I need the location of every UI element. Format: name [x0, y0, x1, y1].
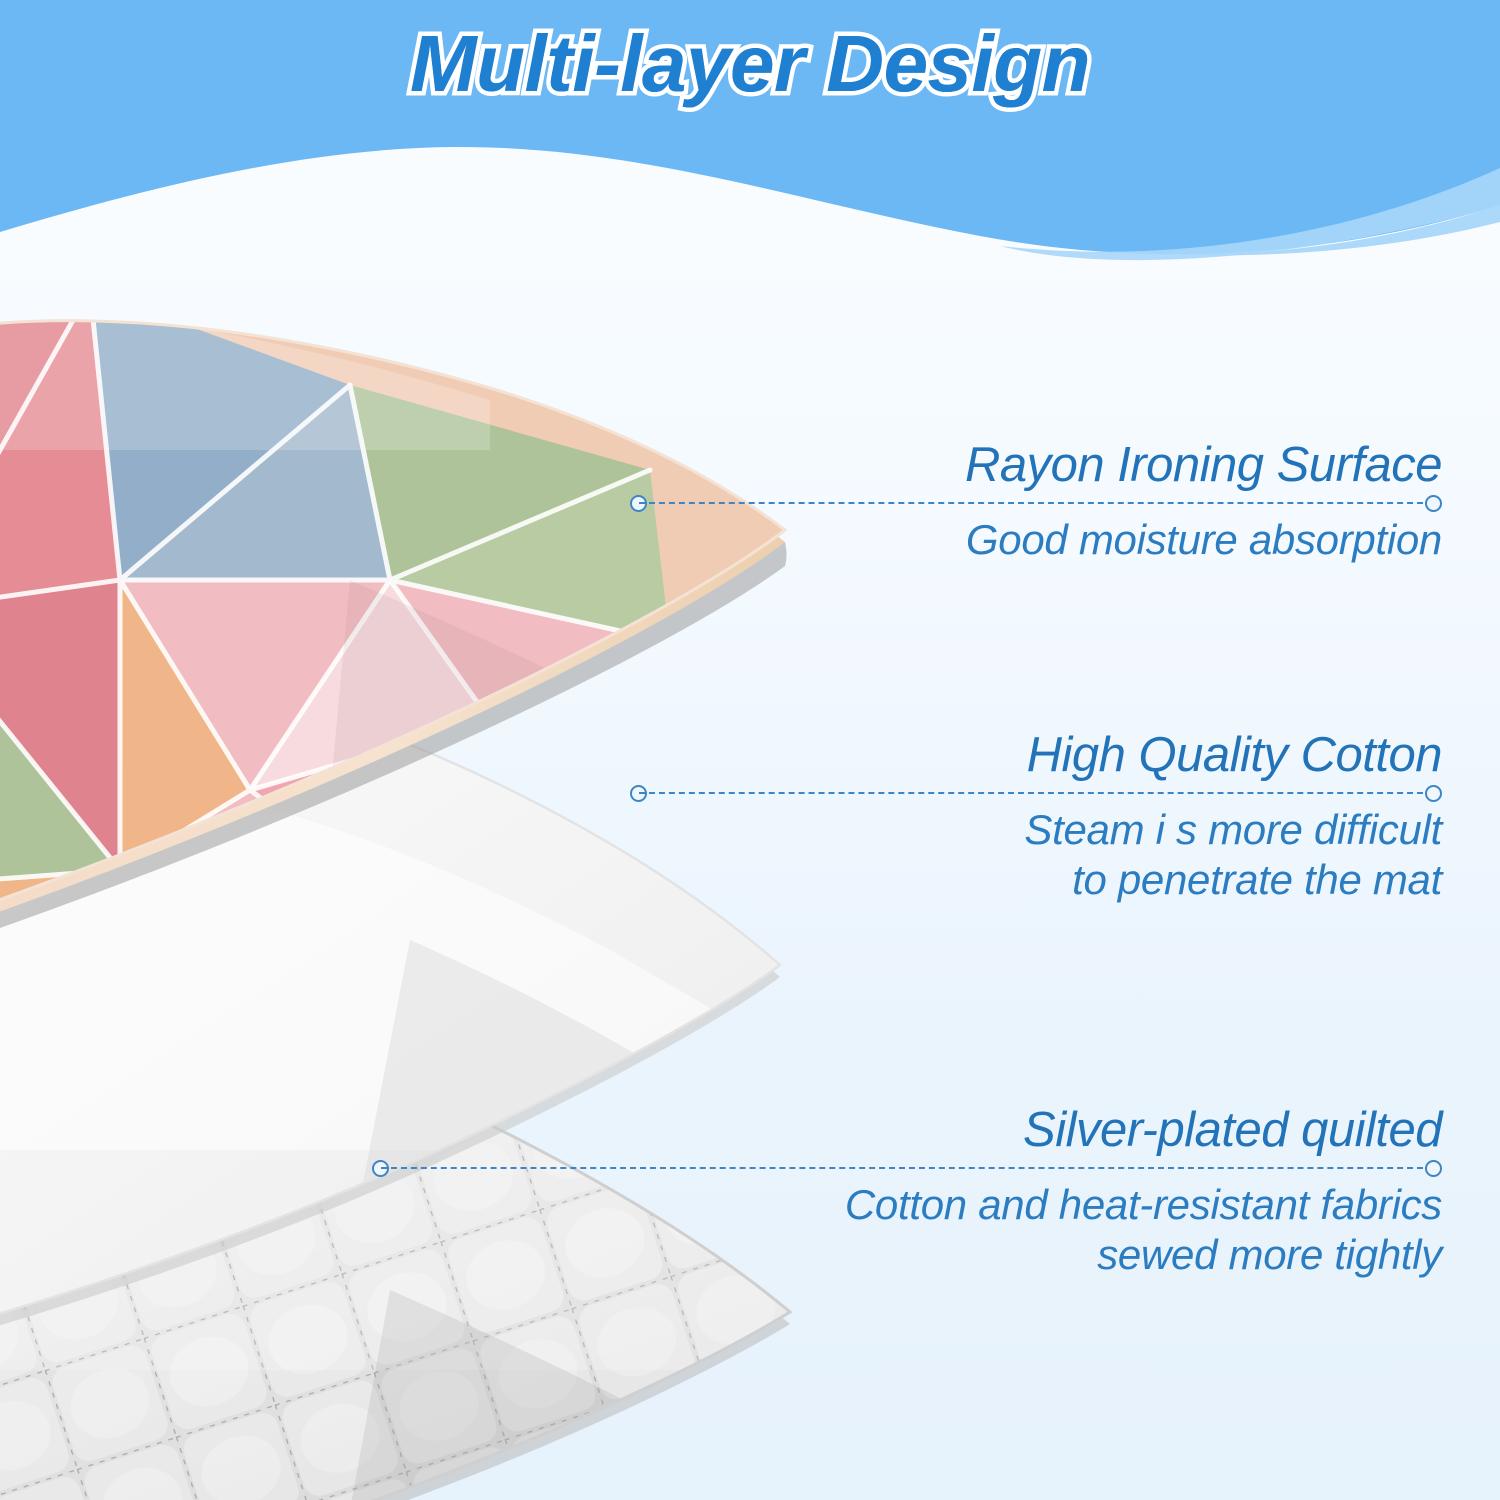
- callout-2-connector: [630, 781, 1442, 805]
- page-title: Multi-layer Design: [0, 18, 1500, 110]
- connector-dot-right: [1425, 1160, 1442, 1177]
- callout-1-connector: [630, 491, 1442, 515]
- callout-1-heading: Rayon Ironing Surface: [630, 440, 1442, 491]
- callout-1-sub-line-1: Good moisture absorption: [630, 515, 1442, 564]
- callout-2-sub-line-1: Steam i s more difficult: [630, 805, 1442, 854]
- callout-2-heading: High Quality Cotton: [630, 730, 1442, 781]
- connector-dashed-line: [639, 792, 1433, 794]
- callout-3-sub-line-1: Cotton and heat-resistant fabrics: [372, 1180, 1442, 1229]
- callout-3-heading: Silver-plated quilted: [372, 1105, 1442, 1156]
- connector-dashed-line: [639, 502, 1433, 504]
- callout-silver-plated-quilted: Silver-plated quilted Cotton and heat-re…: [372, 1105, 1442, 1279]
- callout-high-quality-cotton: High Quality Cotton Steam i s more diffi…: [630, 730, 1442, 904]
- connector-dashed-line: [381, 1167, 1433, 1169]
- connector-dot-right: [1425, 495, 1442, 512]
- infographic-page: Multi-layer Design Multi-layer Design: [0, 0, 1500, 1500]
- connector-dot-right: [1425, 785, 1442, 802]
- callout-rayon-ironing-surface: Rayon Ironing Surface Good moisture abso…: [630, 440, 1442, 565]
- callout-3-connector: [372, 1156, 1442, 1180]
- callout-2-sub-line-2: to penetrate the mat: [630, 855, 1442, 904]
- callout-3-sub-line-2: sewed more tightly: [372, 1230, 1442, 1279]
